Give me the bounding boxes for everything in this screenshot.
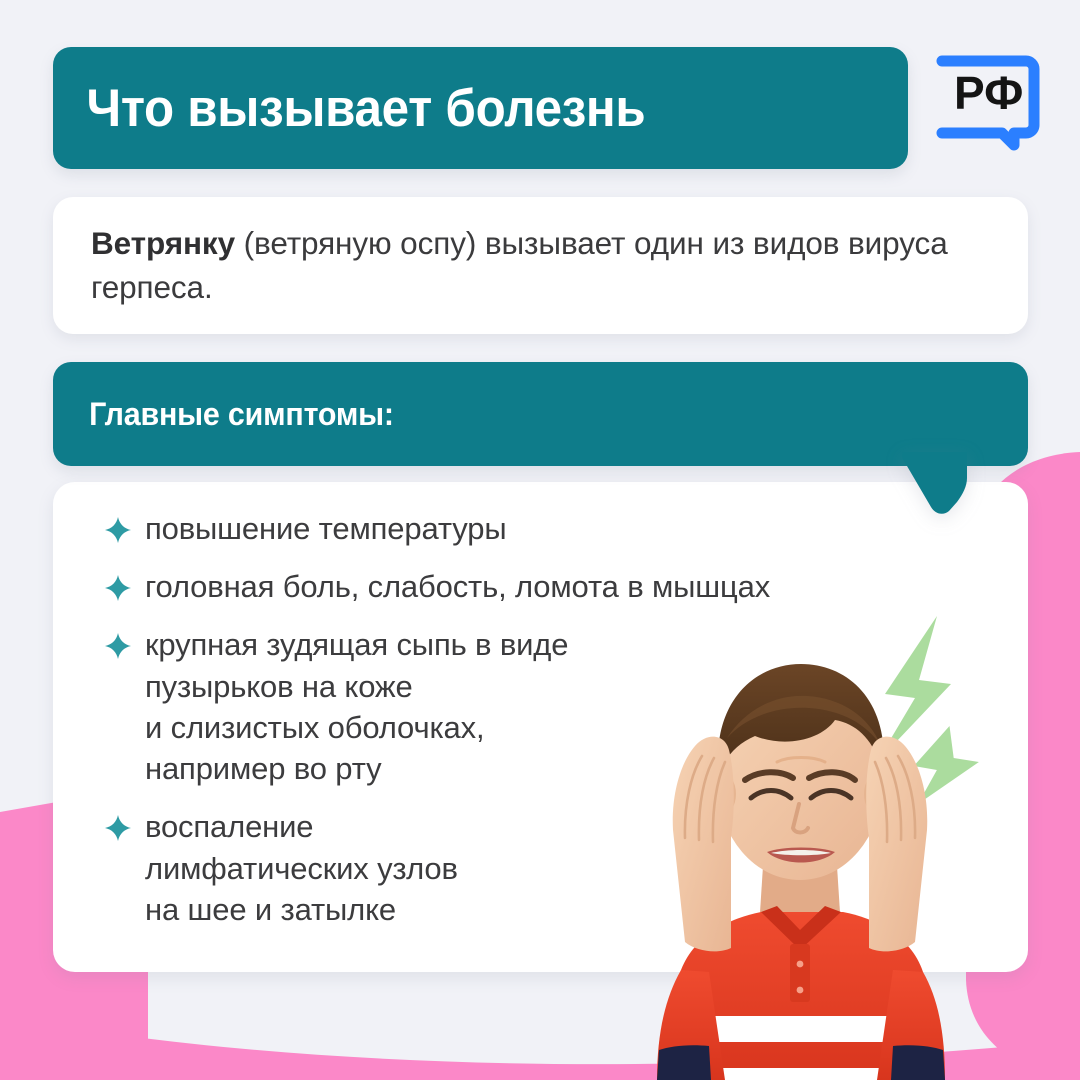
list-item-label: повышение температуры bbox=[145, 508, 506, 549]
symptoms-heading: Главные симптомы: bbox=[53, 398, 394, 430]
diamond-icon bbox=[105, 575, 131, 605]
diamond-icon bbox=[105, 815, 131, 845]
infographic-poster: Что вызывает болезнь РФ Ветрянку (ветрян… bbox=[0, 0, 1080, 1080]
symptoms-bullet-list: повышение температуры головная боль, сла… bbox=[53, 482, 1028, 947]
list-item: повышение температуры bbox=[105, 508, 1028, 549]
list-item-label: крупная зудящая сыпь в виде пузырьков на… bbox=[145, 624, 568, 789]
diamond-icon bbox=[105, 633, 131, 663]
symptoms-heading-bar: Главные симптомы: bbox=[53, 362, 1028, 466]
intro-text: Ветрянку (ветряную оспу) вызывает один и… bbox=[53, 222, 1028, 308]
list-item-label: воспаление лимфатических узлов на шее и … bbox=[145, 806, 458, 930]
page-title: Что вызывает болезнь bbox=[53, 82, 645, 135]
header-bar: Что вызывает болезнь bbox=[53, 47, 908, 169]
list-item: крупная зудящая сыпь в виде пузырьков на… bbox=[105, 624, 1028, 789]
intro-card: Ветрянку (ветряную оспу) вызывает один и… bbox=[53, 197, 1028, 334]
list-item-label: головная боль, слабость, ломота в мышцах bbox=[145, 566, 770, 607]
list-item: воспаление лимфатических узлов на шее и … bbox=[105, 806, 1028, 930]
rf-logo-text: РФ bbox=[954, 67, 1023, 119]
list-item: головная боль, слабость, ломота в мышцах bbox=[105, 566, 1028, 607]
intro-bold-lead: Ветрянку bbox=[91, 225, 235, 261]
rf-logo[interactable]: РФ bbox=[928, 41, 1046, 159]
diamond-icon bbox=[105, 517, 131, 547]
